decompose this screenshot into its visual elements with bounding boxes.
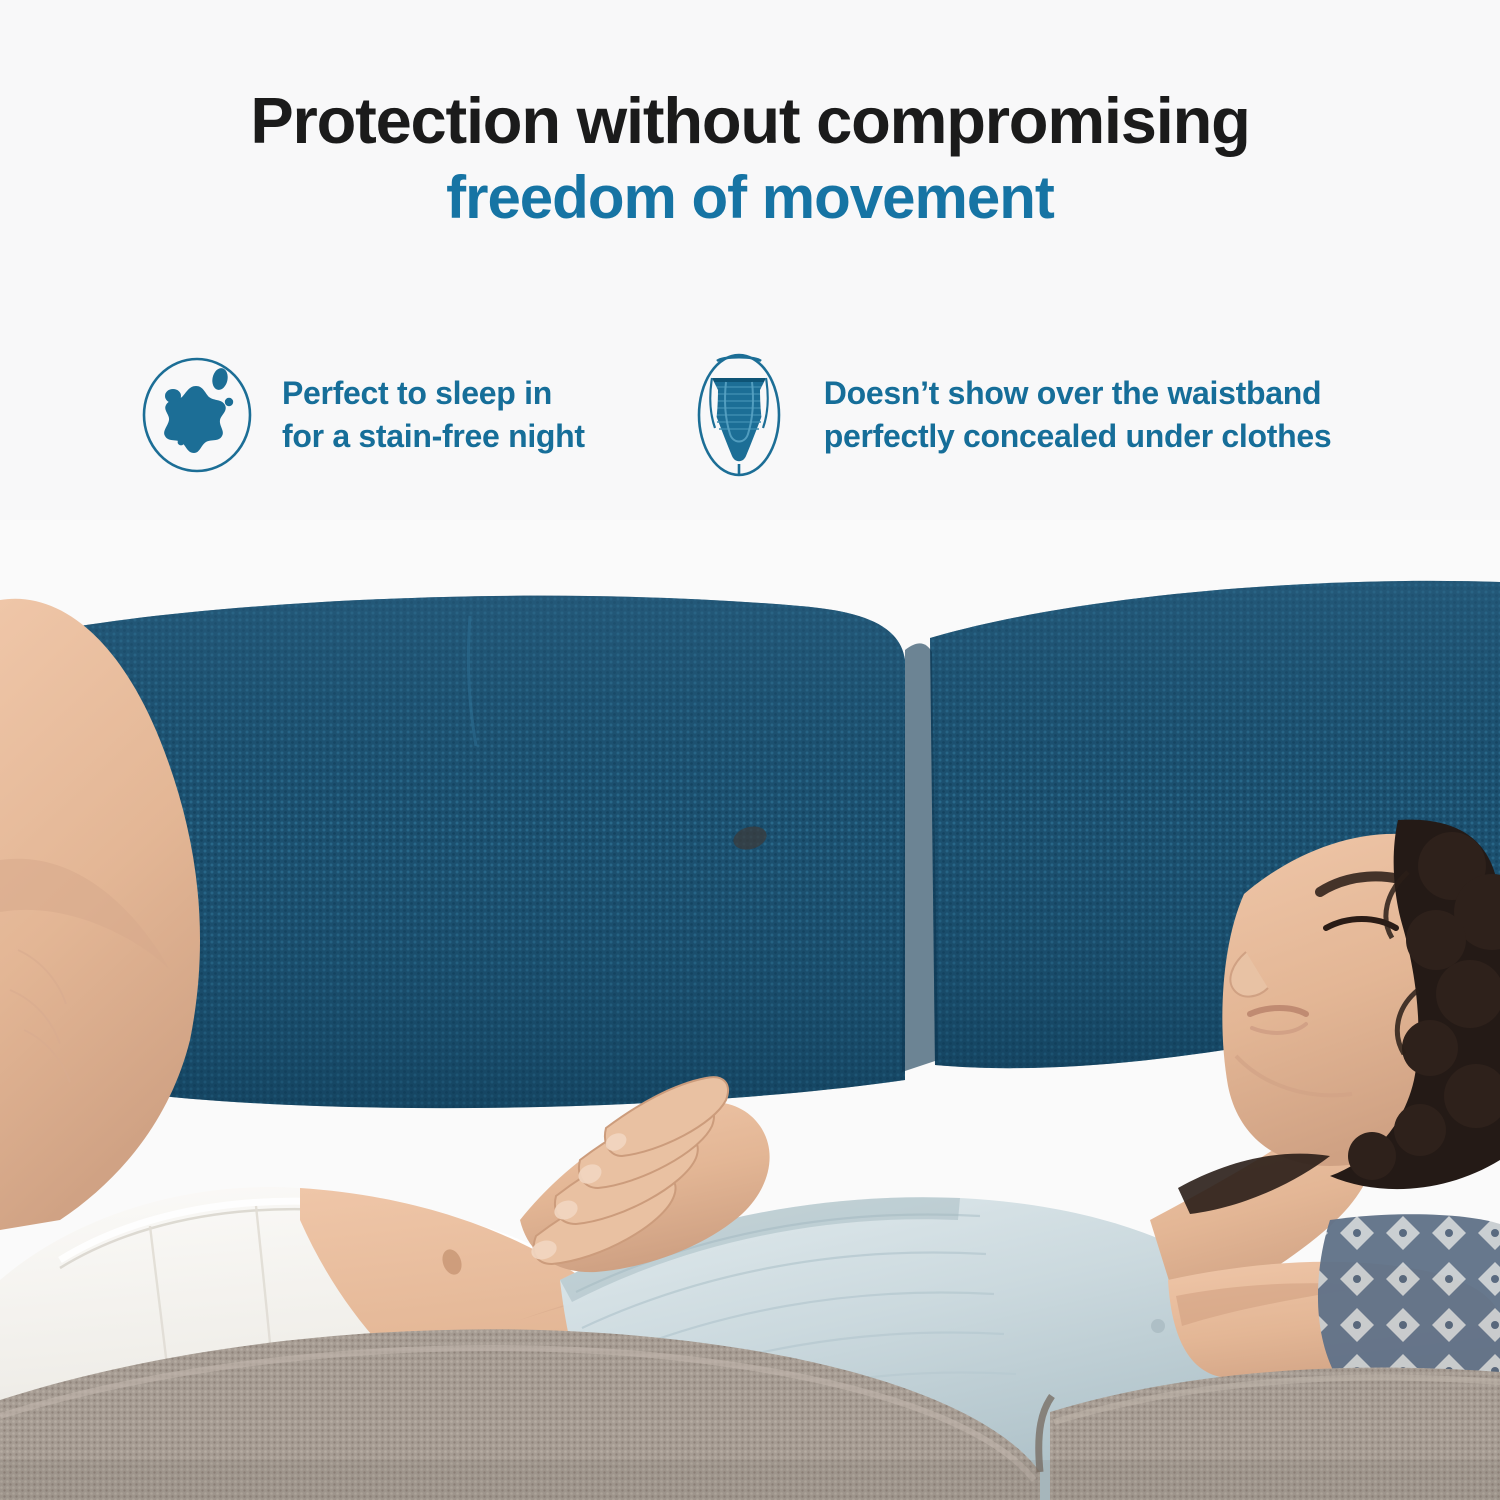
- feature-item-sleep: Perfect to sleep in for a stain-free nig…: [138, 352, 585, 478]
- feature-text-concealed-line1: Doesn’t show over the waistband: [824, 375, 1321, 411]
- product-marketing-page: Protection without compromising freedom …: [0, 0, 1500, 1500]
- feature-text-sleep-line1: Perfect to sleep in: [282, 375, 552, 411]
- headline-line-1: Protection without compromising: [0, 88, 1500, 154]
- feature-text-sleep-line2: for a stain-free night: [282, 415, 585, 458]
- brief-underwear-icon: [680, 352, 798, 478]
- feature-text-concealed: Doesn’t show over the waistband perfectl…: [824, 372, 1332, 458]
- headline-block: Protection without compromising freedom …: [0, 88, 1500, 229]
- feature-text-concealed-line2: perfectly concealed under clothes: [824, 415, 1332, 458]
- headline-line-2: freedom of movement: [0, 166, 1500, 229]
- splash-icon: [138, 352, 256, 478]
- feature-list: Perfect to sleep in for a stain-free nig…: [0, 352, 1500, 487]
- feature-item-concealed: Doesn’t show over the waistband perfectl…: [680, 352, 1332, 478]
- lifestyle-product-photo: [0, 520, 1500, 1500]
- feature-text-sleep: Perfect to sleep in for a stain-free nig…: [282, 372, 585, 458]
